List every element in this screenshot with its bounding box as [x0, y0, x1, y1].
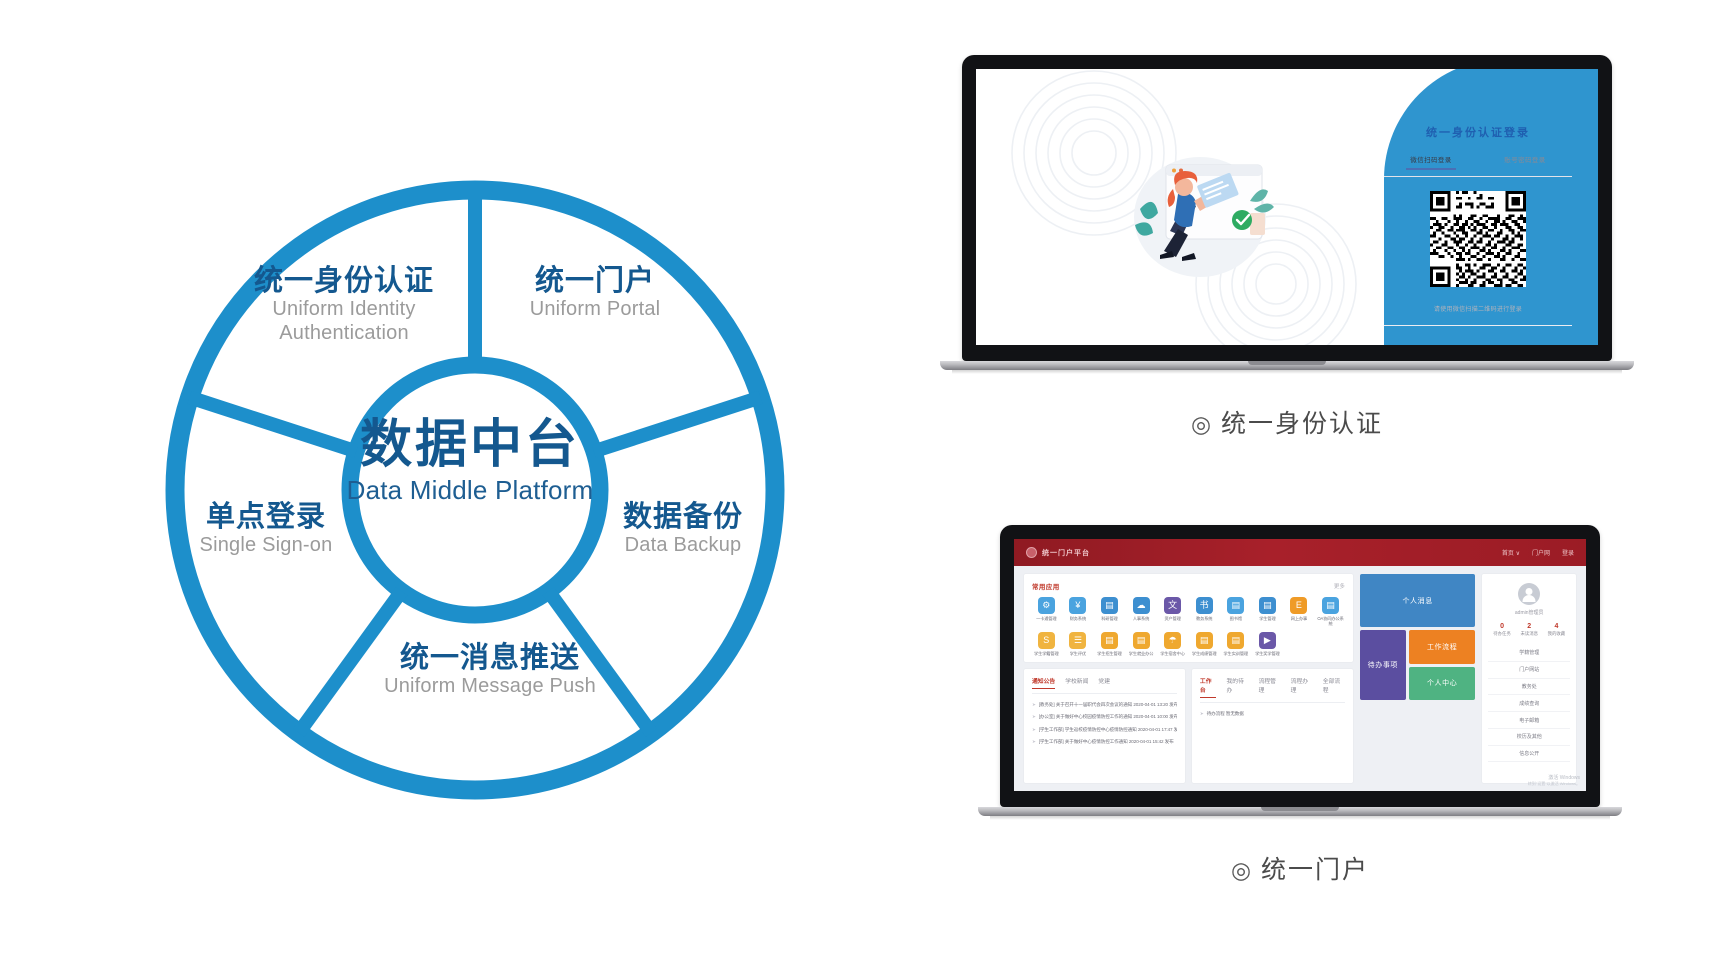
portal-nav: 首页 ∨ 门户网 登录 [1502, 548, 1574, 557]
laptop-mockup-portal: 统一门户平台 首页 ∨ 门户网 登录 常用应用 [1000, 525, 1600, 886]
app-label: 学生学籍管理 [1032, 651, 1061, 656]
bullet-icon: ➤ [1032, 714, 1036, 719]
laptop-caption-identity-auth: ◎统一身份认证 [962, 404, 1612, 440]
sidebar-username: admin管理员 [1488, 609, 1570, 616]
login-title: 统一身份认证登录 [1384, 124, 1572, 140]
caption-text: 统一身份认证 [1221, 410, 1383, 438]
todo-tab[interactable]: 全部流程 [1323, 676, 1345, 698]
app-icon: ☁ [1133, 597, 1150, 614]
app-tile[interactable]: ▤科研管理 [1095, 597, 1124, 627]
segment-label-cn: 单点登录 [156, 500, 376, 534]
caption-text: 统一门户 [1261, 856, 1369, 884]
todo-row[interactable]: ➤待办流程 暂无数据 [1200, 708, 1345, 720]
login-card: 统一身份认证登录 微信扫码登录 账号密码登录 [1384, 124, 1572, 326]
todo-tab[interactable]: 我的待办 [1226, 676, 1248, 698]
app-icon: ▤ [1101, 632, 1118, 649]
portal-body: 常用应用 更多 ⚙一卡通管理¥财务系统▤科研管理☁人事系统文资产管理书教务系统▤… [1014, 566, 1586, 791]
login-divider [1384, 325, 1572, 326]
app-tile[interactable]: ¥财务系统 [1064, 597, 1093, 627]
todo-panel: 工作台我的待办流程管理流程办理全部流程 ➤待办流程 暂无数据 [1192, 669, 1353, 783]
sidebar-link[interactable]: 教务处 [1488, 679, 1570, 696]
app-tile[interactable]: ☂学生宿舍中心 [1158, 632, 1187, 656]
notice-tab[interactable]: 学校新闻 [1065, 676, 1088, 689]
segment-label-cn: 统一门户 [480, 264, 710, 298]
sidebar-stat[interactable]: 2未读消息 [1520, 623, 1538, 637]
school-crest-icon [1026, 547, 1037, 558]
app-label: 科研管理 [1095, 616, 1124, 621]
stat-value: 0 [1493, 623, 1511, 630]
app-tile[interactable]: ▤学生实训管理 [1221, 632, 1250, 656]
apps-card-title: 常用应用 [1032, 581, 1060, 591]
app-label: 网上办事 [1285, 616, 1314, 621]
laptop-caption-portal: ◎统一门户 [1000, 850, 1600, 886]
tile-stack: 工作流程 个人中心 [1409, 630, 1476, 700]
wheel-segment-uniform-message-push[interactable]: 统一消息推送 Uniform Message Push [340, 641, 640, 699]
wheel-segment-uniform-identity-authentication[interactable]: 统一身份认证 Uniform Identity Authentication [214, 264, 474, 345]
watermark-line-2: 转到"设置"以激活 Windows。 [1528, 781, 1580, 787]
notice-row[interactable]: ➤[学生工作部] 关于做好中心疫情防控工作通知 2020-04-01 15:42… [1032, 736, 1177, 748]
laptop-shadow [990, 816, 1610, 820]
app-tile[interactable]: S学生学籍管理 [1032, 632, 1061, 656]
app-tile[interactable]: ▤学生就业办公 [1127, 632, 1156, 656]
tile-row: 待办事项 工作流程 个人中心 [1360, 630, 1476, 700]
wheel-center-label: 数据中台 Data Middle Platform [330, 418, 610, 506]
laptop-lid: 统一门户平台 首页 ∨ 门户网 登录 常用应用 [1000, 525, 1600, 807]
tile-personal-message[interactable]: 个人消息 [1360, 574, 1476, 627]
app-label: 财务系统 [1064, 616, 1093, 621]
stat-label: 我的收藏 [1548, 631, 1566, 637]
app-label: 学生宿舍中心 [1158, 651, 1187, 656]
portal-logo-text: 统一门户平台 [1042, 548, 1090, 558]
notice-row[interactable]: ➤[办公室] 关于做好中心校园疫情防控工作的通知 2020-04-01 10:0… [1032, 711, 1177, 723]
app-icon: ▤ [1227, 632, 1244, 649]
wheel-segment-single-sign-on[interactable]: 单点登录 Single Sign-on [156, 500, 376, 558]
stat-value: 2 [1520, 623, 1538, 630]
notice-panel: 通知公告学校新闻党建 ➤[教务处] 关于召开十一届职代会四次会议的通知 2020… [1024, 669, 1185, 783]
sidebar-link[interactable]: 信息公开 [1488, 746, 1570, 763]
app-tile[interactable]: 文资产管理 [1158, 597, 1187, 627]
todo-tab[interactable]: 流程办理 [1291, 676, 1313, 698]
bullet-circle-icon: ◎ [1191, 411, 1213, 437]
app-tile[interactable]: E网上办事 [1285, 597, 1314, 627]
portal-main-column: 常用应用 更多 ⚙一卡通管理¥财务系统▤科研管理☁人事系统文资产管理书教务系统▤… [1024, 574, 1353, 783]
nav-item-portal[interactable]: 门户网 [1532, 548, 1550, 557]
diagram-page: 数据中台 Data Middle Platform 统一身份认证 Uniform… [0, 0, 1728, 953]
app-icon: ▤ [1196, 632, 1213, 649]
app-tile[interactable]: 书教务系统 [1190, 597, 1219, 627]
laptop-screen: 统一门户平台 首页 ∨ 门户网 登录 常用应用 [1014, 539, 1586, 791]
app-icon: E [1290, 597, 1307, 614]
sidebar-link[interactable]: 门户网站 [1488, 662, 1570, 679]
app-label: 一卡通管理 [1032, 616, 1061, 621]
app-tile[interactable]: ☰学生评优 [1064, 632, 1093, 656]
common-apps-card: 常用应用 更多 ⚙一卡通管理¥财务系统▤科研管理☁人事系统文资产管理书教务系统▤… [1024, 574, 1353, 662]
notice-tab-bar: 通知公告学校新闻党建 [1032, 676, 1177, 694]
portal-header: 统一门户平台 首页 ∨ 门户网 登录 [1014, 539, 1586, 566]
laptop-base [940, 361, 1634, 370]
segment-label-en: Uniform Portal [480, 298, 710, 322]
laptop-base [978, 807, 1622, 816]
todo-tab-bar: 工作台我的待办流程管理流程办理全部流程 [1200, 676, 1345, 703]
login-illustration [1104, 139, 1304, 289]
apps-grid: ⚙一卡通管理¥财务系统▤科研管理☁人事系统文资产管理书教务系统▤图书馆▤学生管理… [1032, 597, 1345, 656]
app-tile[interactable]: ☁人事系统 [1127, 597, 1156, 627]
login-tab-bar: 微信扫码登录 账号密码登录 [1384, 154, 1572, 177]
app-icon: ▤ [1259, 597, 1276, 614]
bullet-circle-icon: ◎ [1231, 857, 1253, 883]
app-label: 学生成绩管理 [1190, 651, 1219, 656]
app-tile[interactable]: ▤OA协同办公系统 [1316, 597, 1345, 627]
sidebar-link[interactable]: 学籍管理 [1488, 645, 1570, 662]
segment-label-cn: 统一消息推送 [340, 641, 640, 675]
app-label: 学生奖学管理 [1253, 651, 1282, 656]
avatar[interactable] [1518, 583, 1540, 605]
watermark-line-1: 激活 Windows [1528, 774, 1580, 781]
segment-label-cn: 统一身份认证 [214, 264, 474, 298]
app-icon: ⚙ [1038, 597, 1055, 614]
laptop-mockup-identity-auth: 统一身份认证登录 微信扫码登录 账号密码登录 [962, 55, 1612, 440]
todo-list: ➤待办流程 暂无数据 [1200, 708, 1345, 720]
app-icon: ¥ [1069, 597, 1086, 614]
app-icon: ☰ [1069, 632, 1086, 649]
tab-account-password-login[interactable]: 账号密码登录 [1500, 154, 1549, 170]
stat-value: 4 [1548, 623, 1566, 630]
app-icon: ▤ [1101, 597, 1118, 614]
sidebar-stat[interactable]: 4我的收藏 [1548, 623, 1566, 637]
app-icon: S [1038, 632, 1055, 649]
portal-lists-row: 通知公告学校新闻党建 ➤[教务处] 关于召开十一届职代会四次会议的通知 2020… [1024, 669, 1353, 783]
app-tile[interactable]: ▤学生管理 [1253, 597, 1282, 627]
stat-label: 未读消息 [1520, 631, 1538, 637]
qr-code-icon[interactable] [1430, 191, 1526, 287]
app-label: 资产管理 [1158, 616, 1187, 621]
center-title-cn: 数据中台 [330, 418, 610, 473]
bullet-icon: ➤ [1032, 702, 1036, 707]
app-tile[interactable]: ⚙一卡通管理 [1032, 597, 1061, 627]
sidebar-link[interactable]: 校历及其他 [1488, 729, 1570, 746]
windows-activation-watermark: 激活 Windows 转到"设置"以激活 Windows。 [1528, 774, 1580, 787]
apps-more-link[interactable]: 更多 [1334, 582, 1345, 590]
sidebar-stat[interactable]: 0待办任务 [1493, 623, 1511, 637]
app-icon: ▤ [1322, 597, 1339, 614]
laptop-shadow [952, 370, 1622, 374]
nav-item-home[interactable]: 首页 ∨ [1502, 548, 1520, 557]
segment-label-en: Data Backup [568, 534, 798, 558]
app-icon: ▤ [1227, 597, 1244, 614]
app-tile[interactable]: ▤学生成绩管理 [1190, 632, 1219, 656]
notice-row[interactable]: ➤[教务处] 关于召开十一届职代会四次会议的通知 2020-04-01 13:2… [1032, 699, 1177, 711]
app-label: 人事系统 [1127, 616, 1156, 621]
app-tile[interactable]: ▤图书馆 [1221, 597, 1250, 627]
laptop-lid: 统一身份认证登录 微信扫码登录 账号密码登录 [962, 55, 1612, 361]
tab-wechat-qr-login[interactable]: 微信扫码登录 [1406, 154, 1455, 170]
sidebar-link[interactable]: 电子邮箱 [1488, 712, 1570, 729]
apps-card-header: 常用应用 更多 [1032, 581, 1345, 591]
portal-dashboard: 统一门户平台 首页 ∨ 门户网 登录 常用应用 [1014, 539, 1586, 791]
laptop-screen: 统一身份认证登录 微信扫码登录 账号密码登录 [976, 69, 1598, 345]
notice-tab[interactable]: 通知公告 [1032, 676, 1055, 689]
app-tile[interactable]: ▶学生奖学管理 [1253, 632, 1282, 656]
app-label: 学生管理 [1253, 616, 1282, 621]
segment-label-en: Uniform Message Push [340, 675, 640, 699]
app-label: 教务系统 [1190, 616, 1219, 621]
app-icon: 文 [1164, 597, 1181, 614]
bullet-icon: ➤ [1200, 711, 1204, 716]
tile-personal-center[interactable]: 个人中心 [1409, 667, 1476, 701]
wheel-segment-uniform-portal[interactable]: 统一门户 Uniform Portal [480, 264, 710, 322]
notice-row[interactable]: ➤[学生工作部] 学生返校疫情防控中心疫情防控通知 2020-04-01 17:… [1032, 724, 1177, 736]
quick-tiles: 个人消息 待办事项 工作流程 个人中心 [1360, 574, 1476, 783]
app-label: 学生实训管理 [1221, 651, 1250, 656]
tile-workflow[interactable]: 工作流程 [1409, 630, 1476, 664]
wheel-segment-data-backup[interactable]: 数据备份 Data Backup [568, 500, 798, 558]
nav-item-login[interactable]: 登录 [1562, 548, 1574, 557]
app-icon: ▤ [1133, 632, 1150, 649]
stat-label: 待办任务 [1493, 631, 1511, 637]
portal-logo[interactable]: 统一门户平台 [1026, 547, 1090, 558]
data-platform-wheel-diagram: 数据中台 Data Middle Platform 统一身份认证 Uniform… [0, 0, 960, 953]
login-hint-text: 请使用微信扫描二维码进行登录 [1384, 304, 1572, 313]
todo-tab[interactable]: 流程管理 [1259, 676, 1281, 698]
todo-tab[interactable]: 工作台 [1200, 676, 1217, 698]
sidebar-stats: 0待办任务2未读消息4我的收藏 [1488, 623, 1570, 637]
app-label: 学生就业办公 [1127, 651, 1156, 656]
app-label: 图书馆 [1221, 616, 1250, 621]
login-page: 统一身份认证登录 微信扫码登录 账号密码登录 [976, 69, 1598, 345]
sidebar-link[interactable]: 成绩查询 [1488, 695, 1570, 712]
notice-tab[interactable]: 党建 [1098, 676, 1110, 689]
app-label: OA协同办公系统 [1316, 616, 1345, 627]
app-icon: ☂ [1164, 632, 1181, 649]
portal-sidebar: admin管理员 0待办任务2未读消息4我的收藏 学籍管理门户网站教务处成绩查询… [1482, 574, 1576, 783]
app-icon: 书 [1196, 597, 1213, 614]
tile-todo-items[interactable]: 待办事项 [1360, 630, 1406, 700]
app-label: 学生评优 [1064, 651, 1093, 656]
segment-label-cn: 数据备份 [568, 500, 798, 534]
app-tile[interactable]: ▤学生招生管理 [1095, 632, 1124, 656]
app-icon: ▶ [1259, 632, 1276, 649]
sidebar-links: 学籍管理门户网站教务处成绩查询电子邮箱校历及其他信息公开 [1488, 645, 1570, 762]
segment-label-en: Uniform Identity Authentication [214, 298, 474, 345]
bullet-icon: ➤ [1032, 739, 1036, 744]
bullet-icon: ➤ [1032, 727, 1036, 732]
app-label: 学生招生管理 [1095, 651, 1124, 656]
notice-list: ➤[教务处] 关于召开十一届职代会四次会议的通知 2020-04-01 13:2… [1032, 699, 1177, 749]
segment-label-en: Single Sign-on [156, 534, 376, 558]
